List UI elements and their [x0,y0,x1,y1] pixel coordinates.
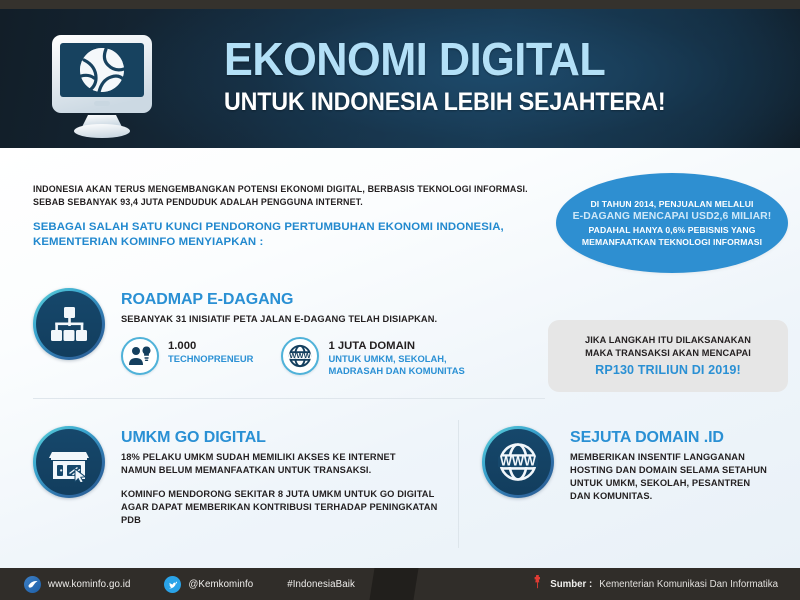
gray-box-line-1: JIKA LANGKAH ITU DILAKSANAKAN [585,334,751,348]
footer-twitter[interactable]: @Kemkominfo [164,576,253,593]
footer-source: Sumber : Kementerian Komunikasi Dan Info… [532,568,778,600]
technopreneur-label: TECHNOPRENEUR [168,353,253,365]
intro-highlight-line-2: KEMENTERIAN KOMINFO MENYIAPKAN : [33,235,533,250]
svg-text:WWW: WWW [500,455,536,469]
body-area: INDONESIA AKAN TERUS MENGEMBANGKAN POTEN… [0,148,800,568]
section-domain: WWW SEJUTA DOMAIN .ID MEMBERIKAN INSENTI… [482,426,792,503]
section-umkm-title: UMKM GO DIGITAL [121,428,453,448]
section-domain-title: SEJUTA DOMAIN .ID [570,428,767,448]
umkm-para1-line1: 18% PELAKU UMKM SUDAH MEMILIKI AKSES KE … [121,451,453,464]
umkm-para2-line1: KOMINFO MENDORONG SEKITAR 8 JUTA UMKM UN… [121,488,453,501]
page-title: EKONOMI DIGITAL [224,33,713,85]
domain-desc-line-2: HOSTING DAN DOMAIN SELAMA SETAHUN [570,464,767,477]
horizontal-divider [33,398,545,399]
domain-label-line-1: UNTUK UMKM, SEKOLAH, [328,353,464,365]
section-roadmap-title: ROADMAP E-DAGANG [121,290,465,310]
footer-notch [369,568,418,600]
gray-box-highlight: RP130 TRILIUN DI 2019! [595,362,741,379]
vertical-divider [458,420,459,548]
pin-icon [532,575,543,594]
footer-source-value: Kementerian Komunikasi Dan Informatika [599,579,778,590]
technopreneur-icon [121,337,159,375]
twitter-icon [164,576,181,593]
footer-website-text: www.kominfo.go.id [48,579,130,590]
section-umkm: UMKM GO DIGITAL 18% PELAKU UMKM SUDAH ME… [33,426,453,527]
footer-source-label: Sumber : [550,579,592,590]
domain-value: 1 JUTA DOMAIN [328,339,464,353]
www-globe-icon: WWW [482,426,554,498]
www-globe-icon: WWW [281,337,319,375]
footer-website[interactable]: www.kominfo.go.id [24,576,130,593]
technopreneur-value: 1.000 [168,339,253,353]
callout-line-1: DI TAHUN 2014, PENJUALAN MELALUI [591,198,754,210]
intro-highlight-line-1: SEBAGAI SALAH SATU KUNCI PENDORONG PERTU… [33,220,533,235]
monitor-globe-icon [44,31,160,141]
org-chart-icon [33,288,105,360]
gray-box-line-2: MAKA TRANSAKSI AKAN MENCAPAI [585,347,751,361]
intro-line-2: SEBAB SEBANYAK 93,4 JUTA PENDUDUK ADALAH… [33,196,533,209]
section-roadmap-desc: SEBANYAK 31 INISIATIF PETA JALAN E-DAGAN… [121,313,465,326]
umkm-para2-line2: AGAR DAPAT MEMBERIKAN KONTRIBUSI TERHADA… [121,501,453,527]
footer-twitter-handle: @Kemkominfo [188,579,253,590]
svg-text:WWW: WWW [290,351,312,360]
page-subtitle: UNTUK INDONESIA LEBIH SEJAHTERA! [224,87,708,117]
kominfo-logo-icon [24,576,41,593]
sub-item-domain: WWW 1 JUTA DOMAIN UNTUK UMKM, SEKOLAH, M… [281,337,464,377]
callout-line-4: MEMANFAATKAN TEKNOLOGI INFORMASI [582,236,762,248]
intro-line-1: INDONESIA AKAN TERUS MENGEMBANGKAN POTEN… [33,183,533,196]
intro-paragraph: INDONESIA AKAN TERUS MENGEMBANGKAN POTEN… [33,183,533,250]
callout-oval: DI TAHUN 2014, PENJUALAN MELALUI E-DAGAN… [556,173,788,273]
section-roadmap: ROADMAP E-DAGANG SEBANYAK 31 INISIATIF P… [33,288,553,377]
top-strip [0,0,800,9]
footer-hashtag[interactable]: #IndonesiaBaik [287,579,355,590]
shop-cursor-icon [33,426,105,498]
callout-line-3: PADAHAL HANYA 0,6% PEBISNIS YANG [588,224,755,236]
footer-bar: www.kominfo.go.id @Kemkominfo #Indonesia… [0,568,800,600]
callout-line-2: E-DAGANG MENCAPAI USD2,6 MILIAR! [573,210,772,224]
domain-label-line-2: MADRASAH DAN KOMUNITAS [328,365,464,377]
sub-item-technopreneur: 1.000 TECHNOPRENEUR [121,337,253,377]
domain-desc-line-1: MEMBERIKAN INSENTIF LANGGANAN [570,451,767,464]
header-banner: EKONOMI DIGITAL UNTUK INDONESIA LEBIH SE… [0,9,800,162]
domain-desc-line-4: DAN KOMUNITAS. [570,490,767,503]
umkm-para1-line2: NAMUN BELUM MEMANFAATKAN UNTUK TRANSAKSI… [121,464,453,477]
domain-desc-line-3: UNTUK UMKM, SEKOLAH, PESANTREN [570,477,767,490]
gray-callout-box: JIKA LANGKAH ITU DILAKSANAKAN MAKA TRANS… [548,320,788,392]
